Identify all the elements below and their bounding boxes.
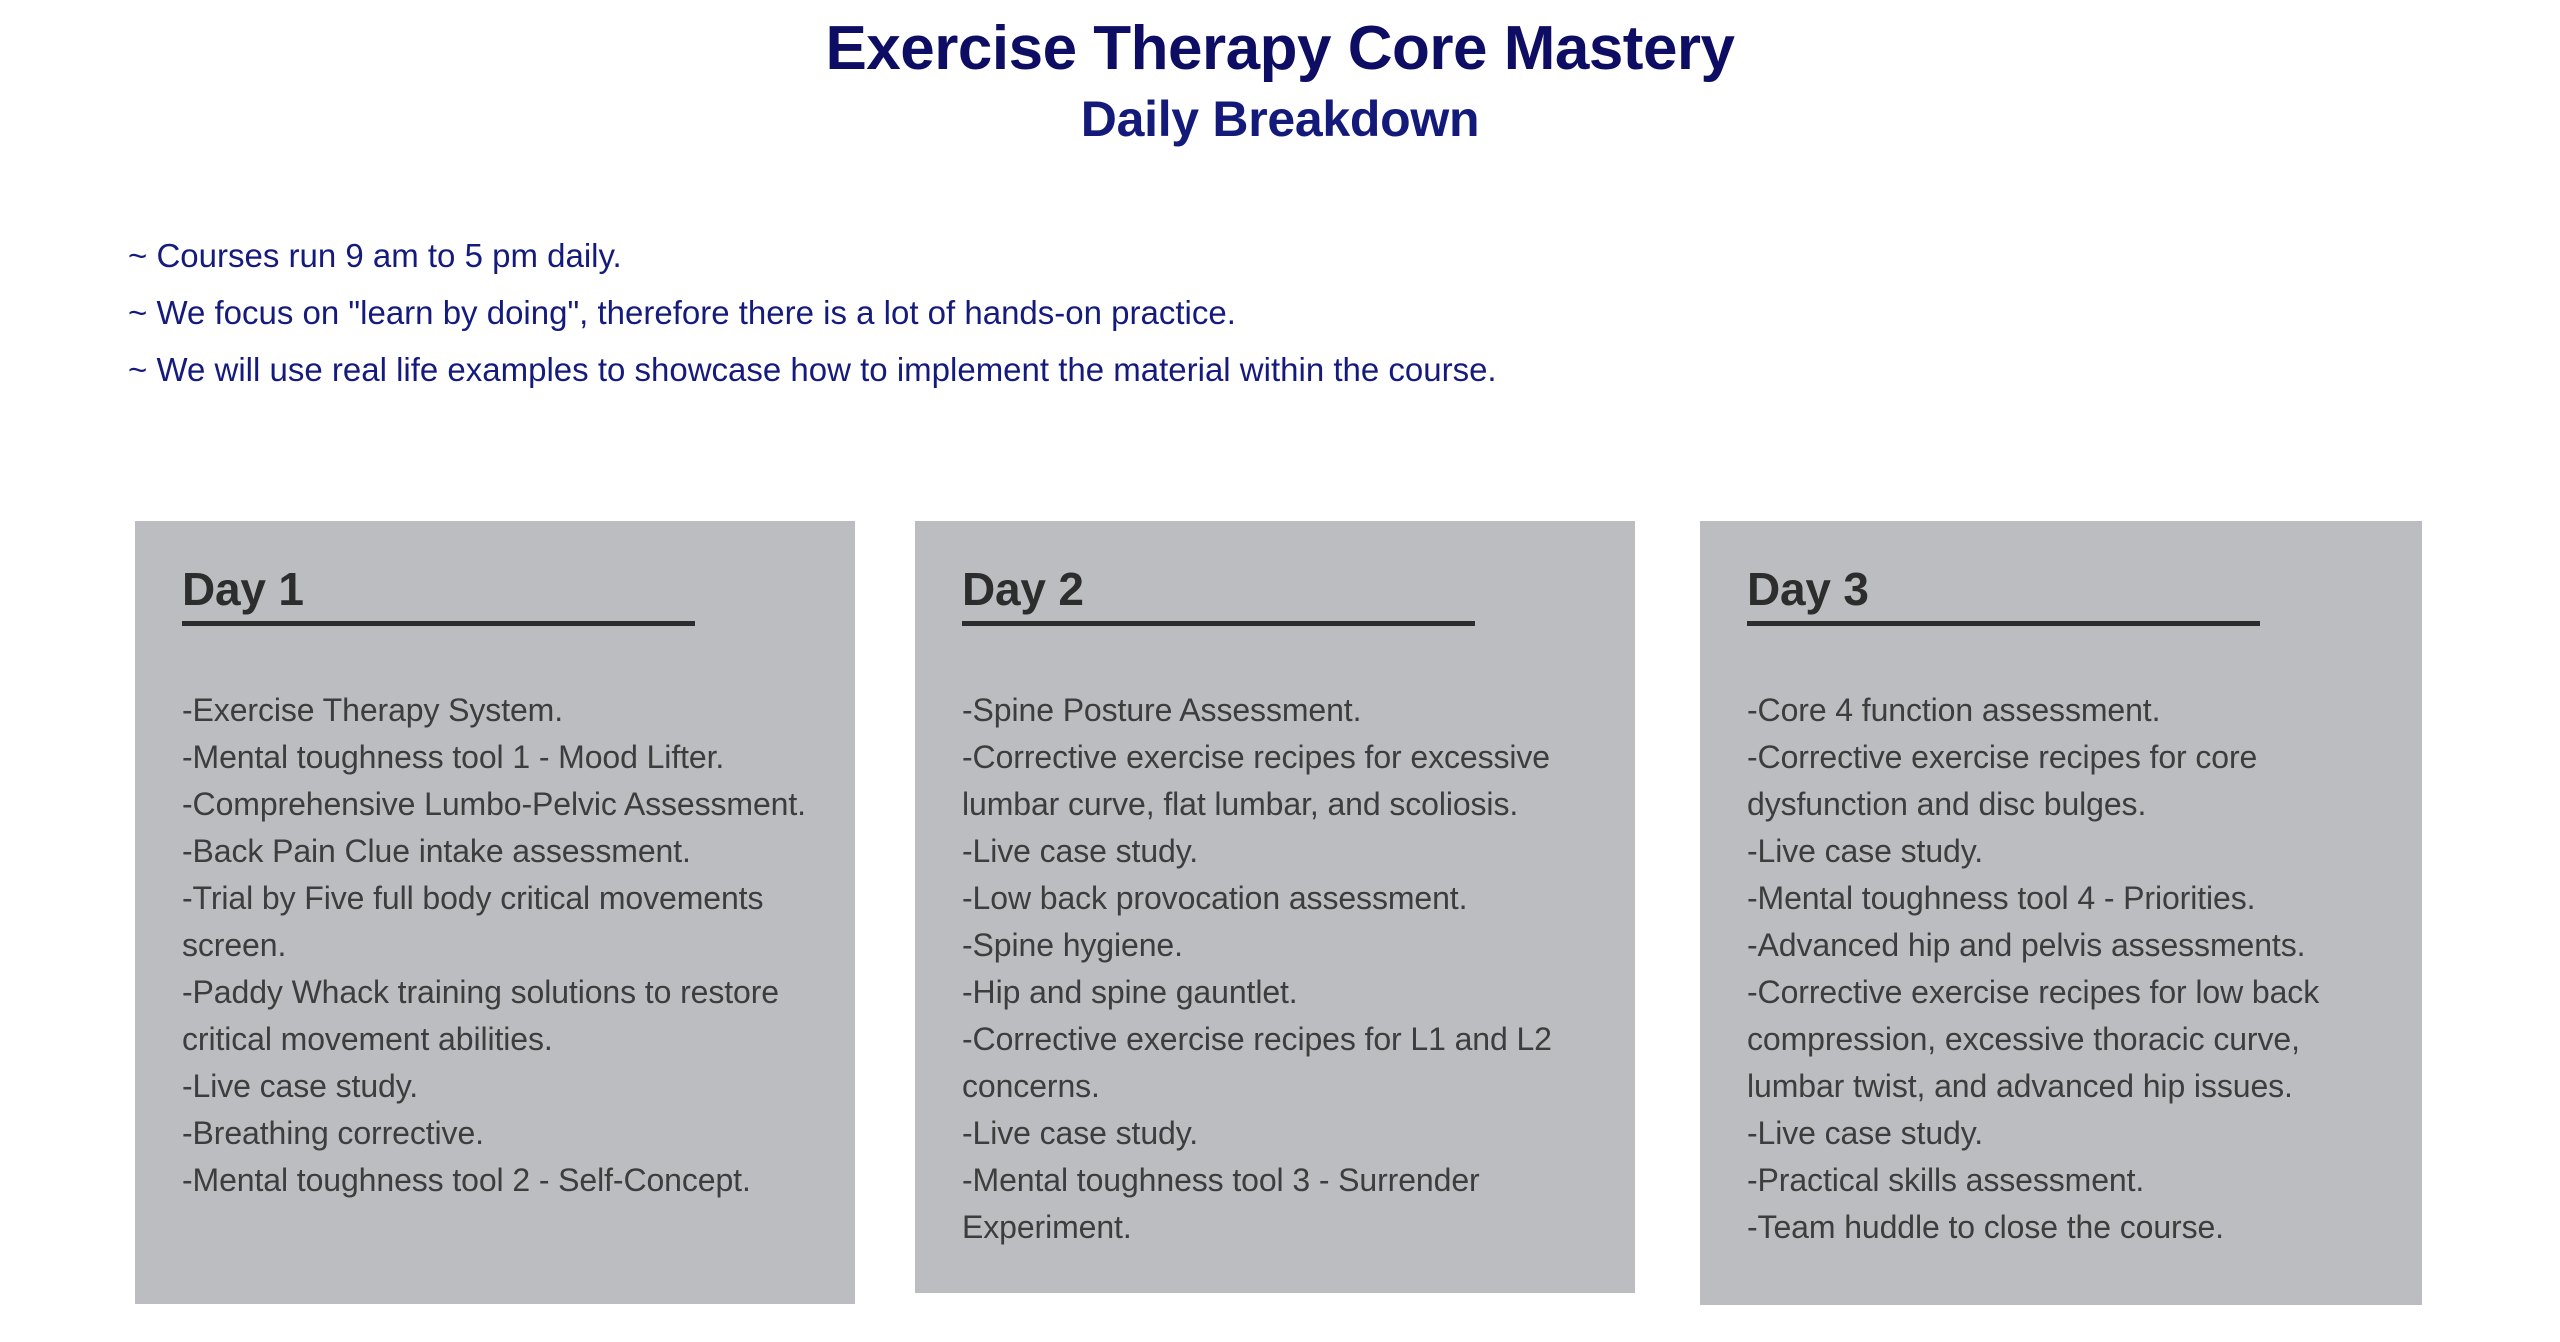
- list-item: -Trial by Five full body critical moveme…: [182, 875, 815, 969]
- day-cards-row: Day 1 -Exercise Therapy System. -Mental …: [0, 521, 2560, 1321]
- list-item: -Core 4 function assessment.: [1747, 687, 2382, 734]
- day-card-2: Day 2 -Spine Posture Assessment. -Correc…: [915, 521, 1635, 1293]
- list-item: -Exercise Therapy System.: [182, 687, 815, 734]
- intro-notes: ~ Courses run 9 am to 5 pm daily. ~ We f…: [128, 227, 2428, 398]
- list-item: -Live case study.: [962, 828, 1595, 875]
- list-item: -Live case study.: [1747, 828, 2382, 875]
- list-item: -Corrective exercise recipes for L1 and …: [962, 1016, 1595, 1110]
- day-2-heading-text: Day 2: [962, 563, 1084, 615]
- day-card-3: Day 3 -Core 4 function assessment. -Corr…: [1700, 521, 2422, 1305]
- list-item: -Paddy Whack training solutions to resto…: [182, 969, 815, 1063]
- list-item: -Corrective exercise recipes for excessi…: [962, 734, 1595, 828]
- day-2-item-list: -Spine Posture Assessment. -Corrective e…: [915, 687, 1635, 1251]
- day-1-heading: Day 1: [182, 563, 855, 635]
- list-item: -Low back provocation assessment.: [962, 875, 1595, 922]
- day-1-item-list: -Exercise Therapy System. -Mental toughn…: [135, 687, 855, 1204]
- list-item: -Mental toughness tool 2 - Self-Concept.: [182, 1157, 815, 1204]
- intro-line-1: ~ Courses run 9 am to 5 pm daily.: [128, 227, 2428, 284]
- list-item: -Corrective exercise recipes for low bac…: [1747, 969, 2382, 1110]
- day-3-heading: Day 3: [1747, 563, 2422, 635]
- list-item: -Back Pain Clue intake assessment.: [182, 828, 815, 875]
- list-item: -Mental toughness tool 1 - Mood Lifter.: [182, 734, 815, 781]
- list-item: -Spine Posture Assessment.: [962, 687, 1595, 734]
- page-header: Exercise Therapy Core Mastery Daily Brea…: [0, 0, 2560, 149]
- list-item: -Team huddle to close the course.: [1747, 1204, 2382, 1251]
- list-item: -Advanced hip and pelvis assessments.: [1747, 922, 2382, 969]
- page-subtitle: Daily Breakdown: [0, 83, 2560, 149]
- list-item: -Live case study.: [182, 1063, 815, 1110]
- list-item: -Live case study.: [962, 1110, 1595, 1157]
- day-2-heading-rule: [962, 621, 1475, 626]
- day-2-heading: Day 2: [962, 563, 1635, 635]
- list-item: -Breathing corrective.: [182, 1110, 815, 1157]
- list-item: -Mental toughness tool 4 - Priorities.: [1747, 875, 2382, 922]
- page-title: Exercise Therapy Core Mastery: [0, 14, 2560, 83]
- page-root: Exercise Therapy Core Mastery Daily Brea…: [0, 0, 2560, 1342]
- list-item: -Hip and spine gauntlet.: [962, 969, 1595, 1016]
- list-item: -Spine hygiene.: [962, 922, 1595, 969]
- intro-line-2: ~ We focus on "learn by doing", therefor…: [128, 284, 2428, 341]
- list-item: -Mental toughness tool 3 - Surrender Exp…: [962, 1157, 1595, 1251]
- intro-line-3: ~ We will use real life examples to show…: [128, 341, 2428, 398]
- day-3-heading-text: Day 3: [1747, 563, 1869, 615]
- day-card-1: Day 1 -Exercise Therapy System. -Mental …: [135, 521, 855, 1304]
- list-item: -Practical skills assessment.: [1747, 1157, 2382, 1204]
- list-item: -Comprehensive Lumbo-Pelvic Assessment.: [182, 781, 815, 828]
- day-1-heading-text: Day 1: [182, 563, 304, 615]
- day-1-heading-rule: [182, 621, 695, 626]
- list-item: -Corrective exercise recipes for core dy…: [1747, 734, 2382, 828]
- list-item: -Live case study.: [1747, 1110, 2382, 1157]
- day-3-item-list: -Core 4 function assessment. -Corrective…: [1700, 687, 2422, 1251]
- day-3-heading-rule: [1747, 621, 2260, 626]
